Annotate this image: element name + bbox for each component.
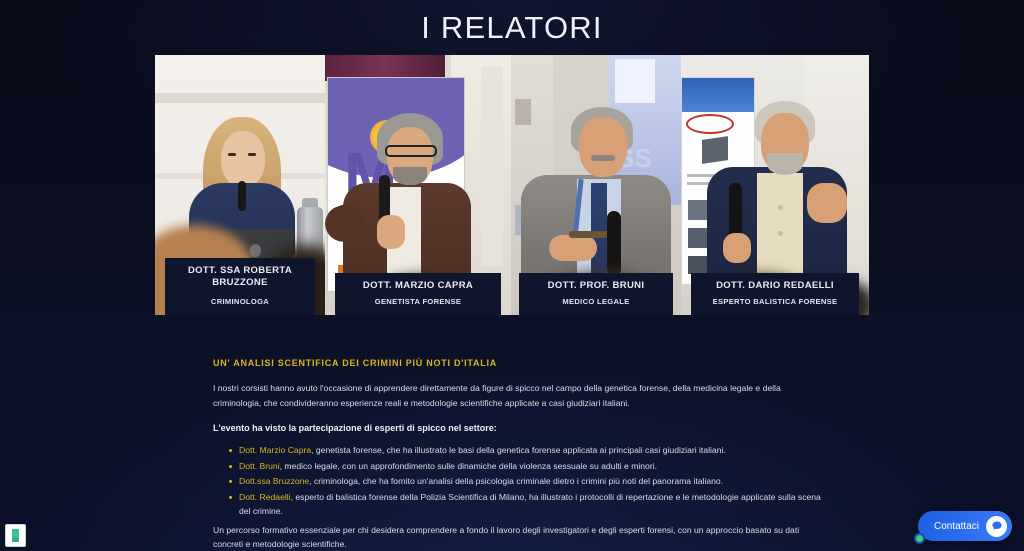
chat-bubble-icon <box>986 516 1007 537</box>
speaker-role: CRIMINOLOGA <box>169 297 311 306</box>
extension-glyph <box>12 529 19 542</box>
speaker-role: ESPERTO BALISTICA FORENSE <box>695 297 855 306</box>
speaker-name: DOTT. MARZIO CAPRA <box>339 280 497 292</box>
bullet-text: , genetista forense, che ha illustrato l… <box>311 445 726 455</box>
speaker-card[interactable]: M DOTT. MARZIO CAPRA GENETISTA FORENSE <box>325 55 511 315</box>
speaker-card[interactable]: SS DOTT. PROF. BRUNI MEDICO LEGALE <box>511 55 681 315</box>
speaker-nameplate: DOTT. MARZIO CAPRA GENETISTA FORENSE <box>335 273 501 315</box>
online-status-dot <box>914 533 925 544</box>
bullet-text: , criminologa, che ha fornito un'analisi… <box>309 476 723 486</box>
speaker-card[interactable]: DOTT. SSA ROBERTA BRUZZONE CRIMINOLOGA <box>155 55 325 315</box>
bullet-highlight: Dott. Marzio Capra <box>239 445 311 455</box>
chat-button-label: Contattaci <box>934 521 979 532</box>
speaker-name: DOTT. SSA ROBERTA BRUZZONE <box>169 265 311 289</box>
article-content: UN' ANALISI SCENTIFICA DEI CRIMINI PIÙ N… <box>213 358 823 551</box>
extension-icon[interactable] <box>5 524 26 547</box>
speaker-role: MEDICO LEGALE <box>523 297 669 306</box>
speaker-card[interactable]: DOTT. DARIO REDAELLI ESPERTO BALISTICA F… <box>681 55 869 315</box>
list-item: Dott. Redaelli, esperto di balistica for… <box>213 490 823 519</box>
list-item: Dott. Bruni, medico legale, con un appro… <box>213 459 823 474</box>
bullet-text: , medico legale, con un approfondimento … <box>280 461 657 471</box>
section-eyebrow: UN' ANALISI SCENTIFICA DEI CRIMINI PIÙ N… <box>213 358 823 368</box>
bullet-highlight: Dott. Bruni <box>239 461 280 471</box>
list-item: Dott.ssa Bruzzone, criminologa, che ha f… <box>213 474 823 489</box>
speaker-bullet-list: Dott. Marzio Capra, genetista forense, c… <box>213 443 823 519</box>
bullet-highlight: Dott. Redaelli <box>239 492 291 502</box>
speakers-gallery: DOTT. SSA ROBERTA BRUZZONE CRIMINOLOGA M <box>155 55 869 315</box>
intro-paragraph: I nostri corsisti hanno avuto l'occasion… <box>213 381 823 410</box>
speaker-role: GENETISTA FORENSE <box>339 297 497 306</box>
speaker-name: DOTT. DARIO REDAELLI <box>695 280 855 292</box>
page-title: I RELATORI <box>0 10 1024 46</box>
speaker-nameplate: DOTT. DARIO REDAELLI ESPERTO BALISTICA F… <box>691 273 859 315</box>
speaker-nameplate: DOTT. SSA ROBERTA BRUZZONE CRIMINOLOGA <box>165 258 315 315</box>
bullet-highlight: Dott.ssa Bruzzone <box>239 476 309 486</box>
list-item: Dott. Marzio Capra, genetista forense, c… <box>213 443 823 458</box>
closing-paragraph: Un percorso formativo essenziale per chi… <box>213 523 823 551</box>
speaker-name: DOTT. PROF. BRUNI <box>523 280 669 292</box>
bullet-text: , esperto di balistica forense della Pol… <box>239 492 821 517</box>
contact-chat-button[interactable]: Contattaci <box>918 511 1012 541</box>
lead-paragraph: L'evento ha visto la partecipazione di e… <box>213 421 823 435</box>
page-root: I RELATORI DOTT. SSA ROBERTA BRUZZONE CR… <box>0 0 1024 551</box>
speaker-nameplate: DOTT. PROF. BRUNI MEDICO LEGALE <box>519 273 673 315</box>
